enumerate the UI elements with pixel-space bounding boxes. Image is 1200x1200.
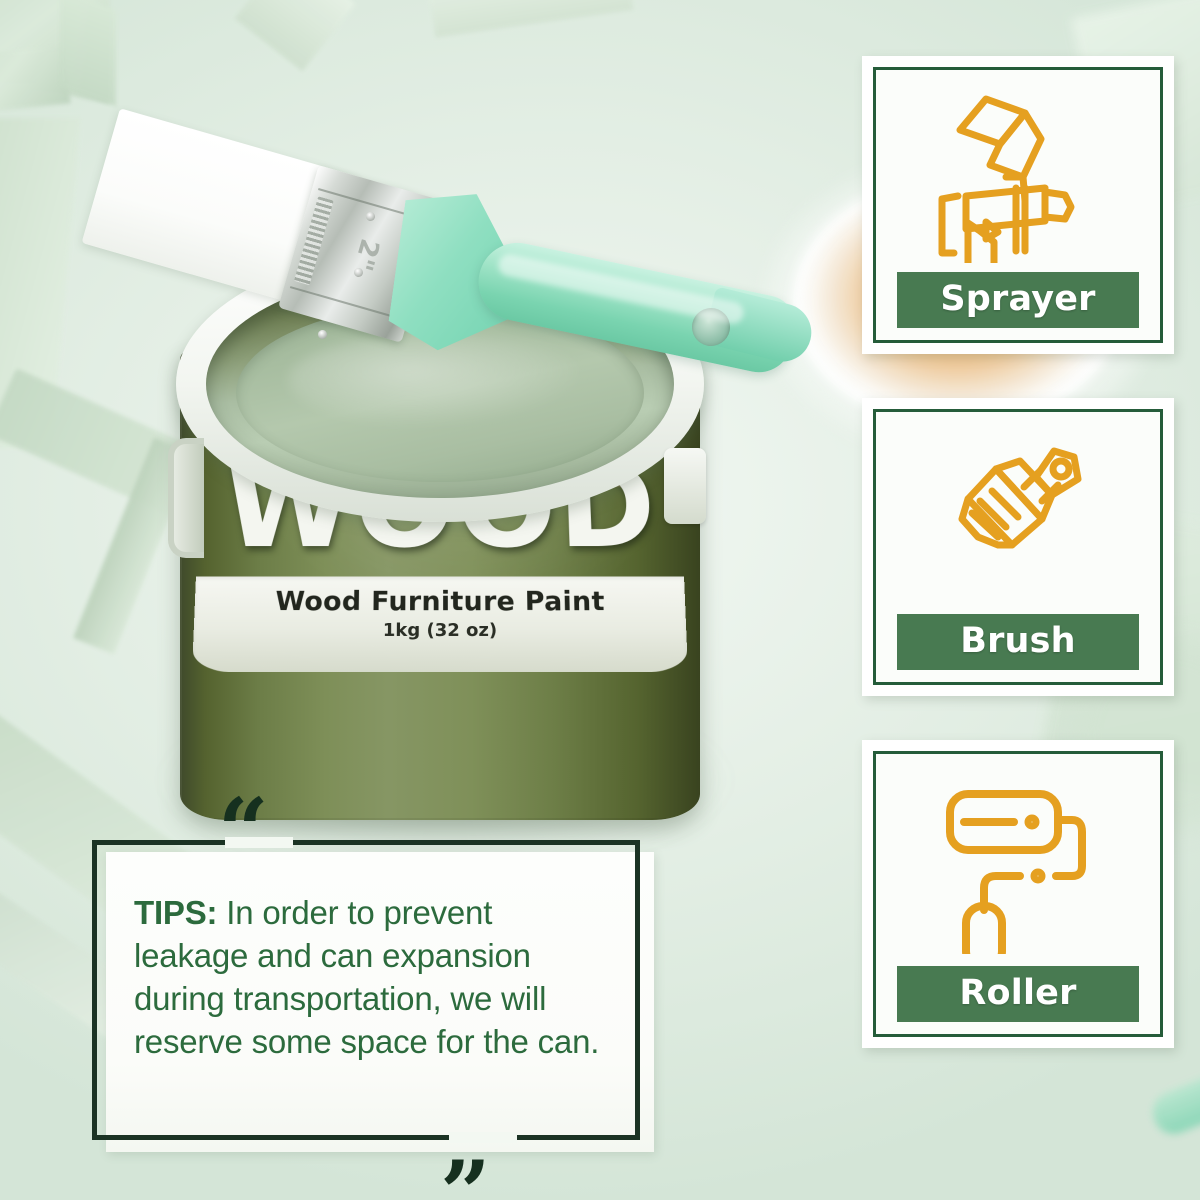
paint-brush-photo: 2" xyxy=(96,140,796,430)
product-marketing-image: Dwil WOOD Wood Furniture Paint 1kg (32 o… xyxy=(0,0,1200,1200)
paint-roller-icon xyxy=(928,778,1108,954)
can-lip-tab xyxy=(664,448,706,524)
can-subtitle: Wood Furniture Paint xyxy=(194,586,685,617)
card-label: Sprayer xyxy=(940,279,1095,319)
ferrule-rivet xyxy=(317,329,328,340)
tips-label: TIPS: xyxy=(134,894,217,931)
icon-area xyxy=(886,424,1150,614)
quote-open-icon: “ xyxy=(218,804,267,857)
spray-gun-icon xyxy=(928,91,1108,263)
card-label: Roller xyxy=(959,973,1076,1013)
can-label-strip: Wood Furniture Paint 1kg (32 oz) xyxy=(192,577,688,673)
card-banner: Sprayer xyxy=(897,272,1140,328)
card-inner-frame: Roller xyxy=(873,751,1163,1037)
card-inner-frame: Brush xyxy=(873,409,1163,685)
background-shape xyxy=(427,0,634,38)
can-handle-bracket xyxy=(168,438,204,558)
tips-callout: “ ” TIPS: In order to prevent leakage an… xyxy=(92,840,640,1152)
tips-text: TIPS: In order to prevent leakage and ca… xyxy=(134,892,604,1064)
icon-area xyxy=(886,766,1150,966)
card-banner: Brush xyxy=(897,614,1140,670)
card-banner: Roller xyxy=(897,966,1140,1022)
card-inner-frame: Sprayer xyxy=(873,67,1163,343)
paint-brush-icon xyxy=(928,433,1108,605)
method-card-sprayer[interactable]: Sprayer xyxy=(862,56,1174,354)
can-net-weight: 1kg (32 oz) xyxy=(193,620,686,641)
card-label: Brush xyxy=(960,621,1076,661)
application-method-cards: Sprayer xyxy=(862,56,1174,1092)
method-card-brush[interactable]: Brush xyxy=(862,398,1174,696)
quote-close-icon: ” xyxy=(440,1167,489,1200)
icon-area xyxy=(886,82,1150,272)
brush-size-label: 2" xyxy=(347,235,385,274)
method-card-roller[interactable]: Roller xyxy=(862,740,1174,1048)
background-shape xyxy=(235,0,356,71)
